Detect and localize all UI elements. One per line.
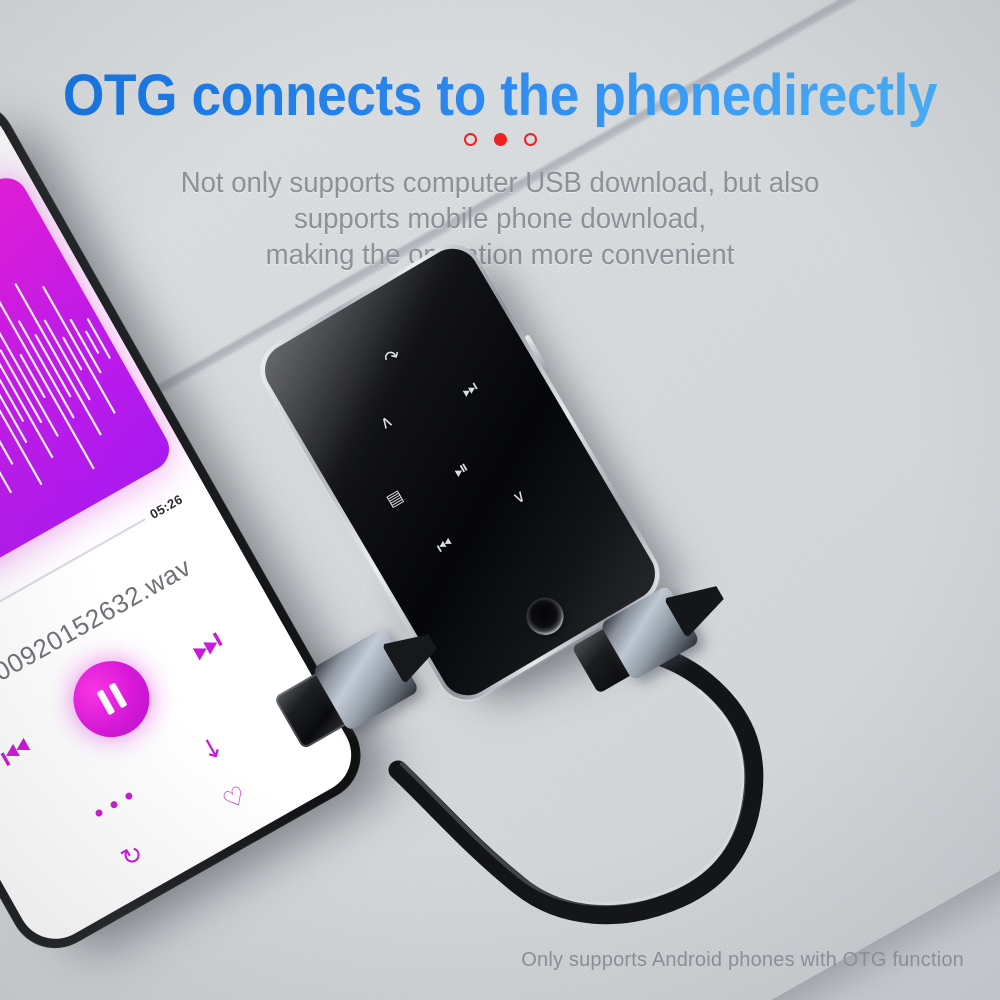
otg-cable bbox=[0, 0, 1000, 1000]
footnote-caption: Only supports Android phones with OTG fu… bbox=[0, 949, 1000, 972]
product-banner: OTG connects to the phonedirectly Not on… bbox=[0, 0, 1000, 1000]
